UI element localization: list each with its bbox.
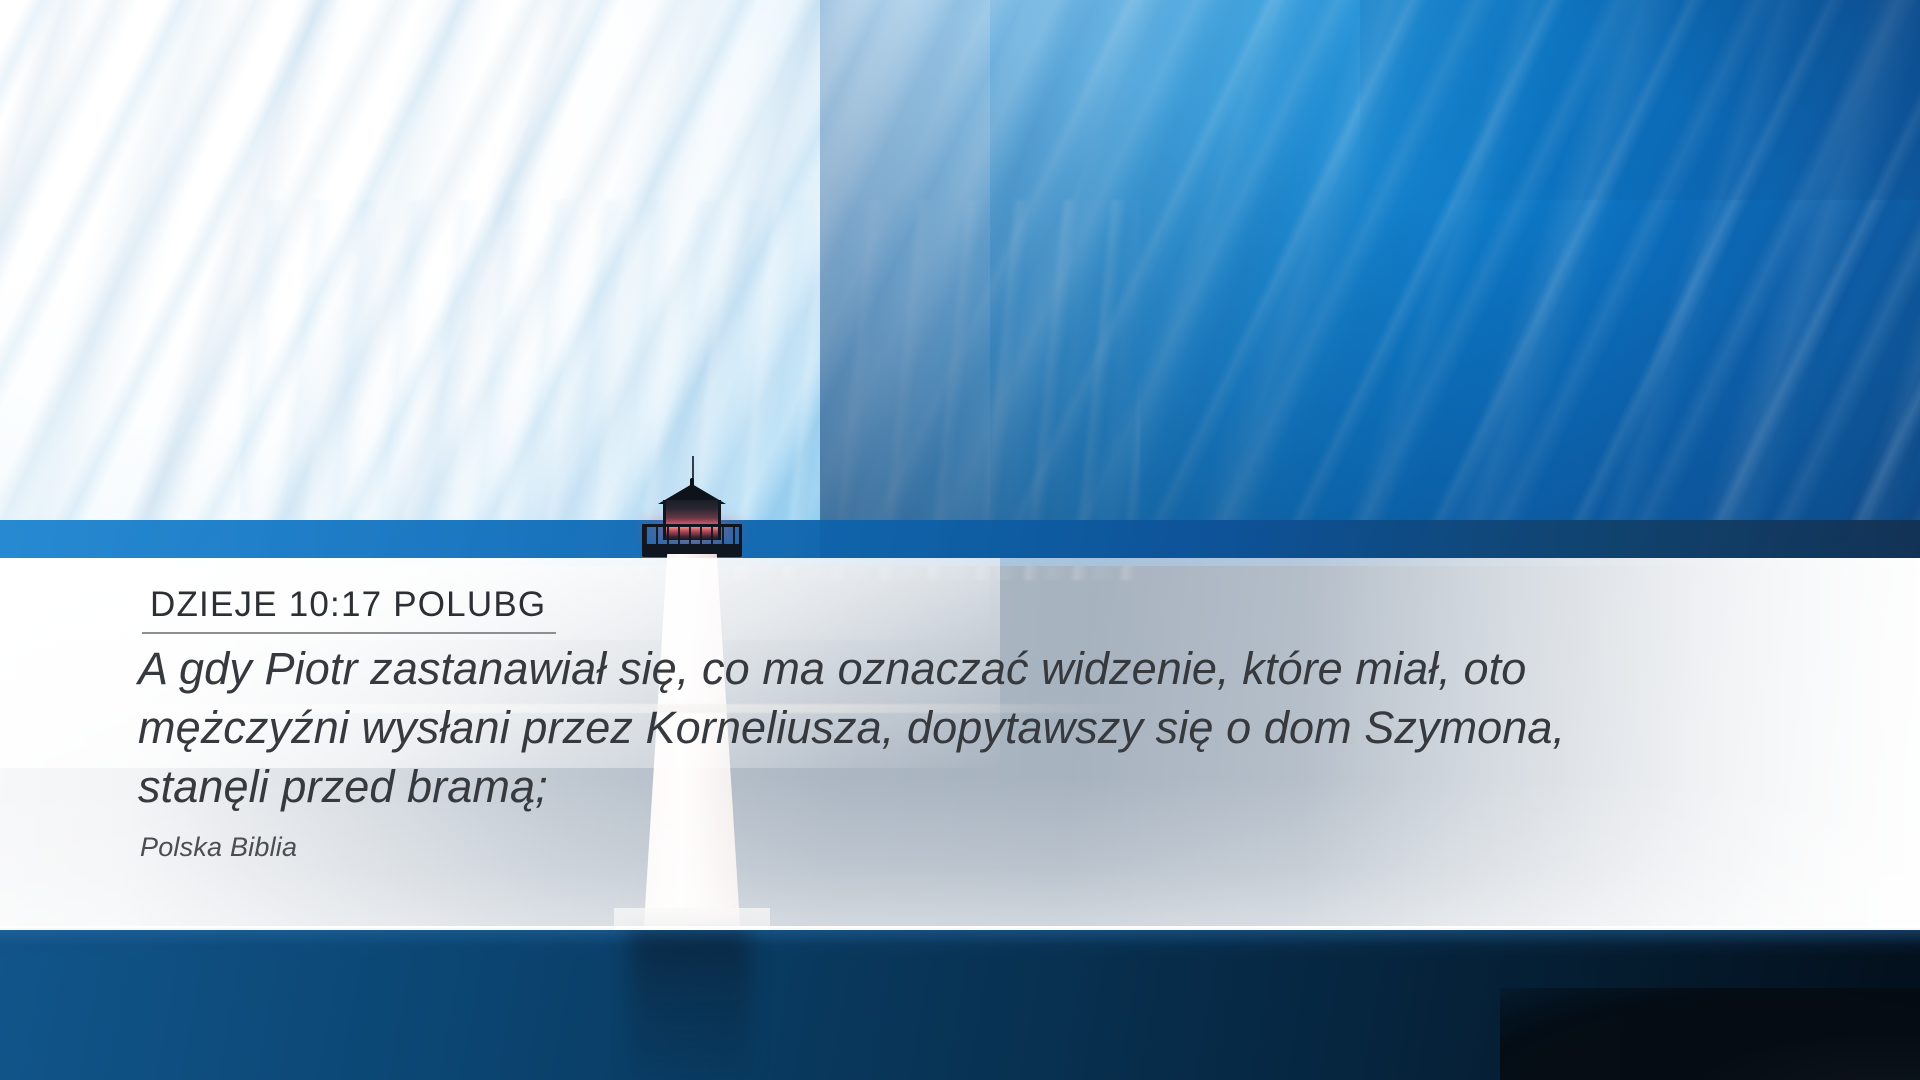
verse-text-block: A gdy Piotr zastanawiał się, co ma oznac…	[138, 640, 1718, 817]
verse-line: A gdy Piotr zastanawiał się, co ma oznac…	[138, 640, 1718, 699]
rocks-silhouette-secondary	[1620, 1010, 1920, 1080]
verse-image-canvas: DZIEJE 10:17 POLUBG A gdy Piotr zastanaw…	[0, 0, 1920, 1080]
verse-reference: DZIEJE 10:17 POLUBG	[142, 583, 556, 634]
verse-attribution: Polska Biblia	[140, 832, 297, 863]
lighthouse-reflection	[630, 930, 750, 1080]
lighthouse-antenna-icon	[692, 456, 694, 480]
verse-line: mężczyźni wysłani przez Korneliusza, dop…	[138, 699, 1718, 758]
verse-content: DZIEJE 10:17 POLUBG A gdy Piotr zastanaw…	[0, 558, 1920, 928]
verse-reference-container: DZIEJE 10:17 POLUBG	[142, 583, 556, 634]
verse-line: stanęli przed bramą;	[138, 758, 1718, 817]
lighthouse-gallery-railing	[642, 524, 742, 546]
water-highlight-edge	[0, 930, 1920, 956]
sky-top-right-shadow	[1360, 0, 1920, 200]
